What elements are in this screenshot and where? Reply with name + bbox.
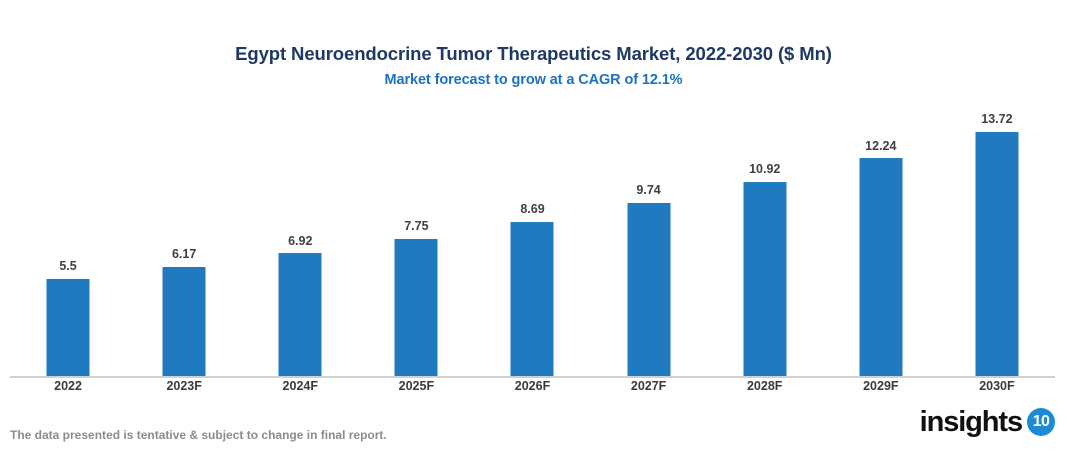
category-label: 2030F (939, 379, 1055, 393)
insights10-logo: insights 10 (920, 405, 1055, 439)
chart-title: Egypt Neuroendocrine Tumor Therapeutics … (0, 43, 1067, 65)
bar-value-label: 6.17 (172, 248, 196, 261)
bar[interactable] (163, 267, 206, 377)
bar[interactable] (47, 279, 90, 377)
bar-value-label: 7.75 (404, 220, 428, 233)
bar-value-label: 12.24 (865, 140, 896, 153)
category-label: 2026F (474, 379, 590, 393)
bar-value-label: 5.5 (59, 260, 76, 273)
bar-value-label: 6.92 (288, 235, 312, 248)
disclaimer-text: The data presented is tentative & subjec… (10, 428, 387, 442)
category-label: 2029F (823, 379, 939, 393)
bar[interactable] (859, 158, 902, 377)
bar-group: 6.92 (242, 100, 358, 377)
bar-group: 12.24 (823, 100, 939, 377)
bar-group: 10.92 (707, 100, 823, 377)
bar-value-label: 13.72 (981, 113, 1012, 126)
bar[interactable] (975, 132, 1018, 377)
bar-group: 13.72 (939, 100, 1055, 377)
chart-canvas: Egypt Neuroendocrine Tumor Therapeutics … (0, 0, 1067, 454)
category-axis: 20222023F2024F2025F2026F2027F2028F2029F2… (10, 379, 1055, 399)
category-label: 2025F (358, 379, 474, 393)
bar-group: 7.75 (358, 100, 474, 377)
axis-baseline (10, 376, 1055, 378)
category-label: 2024F (242, 379, 358, 393)
bar-value-label: 9.74 (636, 184, 660, 197)
bar-group: 5.5 (10, 100, 126, 377)
bar[interactable] (627, 203, 670, 377)
logo-badge-icon: 10 (1027, 408, 1055, 436)
category-label: 2027F (591, 379, 707, 393)
chart-subtitle: Market forecast to grow at a CAGR of 12.… (0, 72, 1067, 88)
bar[interactable] (743, 182, 786, 377)
bar-value-label: 10.92 (749, 163, 780, 176)
bar-group: 6.17 (126, 100, 242, 377)
category-label: 2028F (707, 379, 823, 393)
bar[interactable] (511, 222, 554, 377)
bar-value-label: 8.69 (520, 203, 544, 216)
category-label: 2023F (126, 379, 242, 393)
bar-group: 9.74 (591, 100, 707, 377)
plot-area: 5.56.176.927.758.699.7410.9212.2413.72 (10, 100, 1055, 377)
category-label: 2022 (10, 379, 126, 393)
bar[interactable] (395, 239, 438, 378)
bar-group: 8.69 (474, 100, 590, 377)
bar[interactable] (279, 253, 322, 377)
logo-wordmark: insights (920, 408, 1022, 437)
